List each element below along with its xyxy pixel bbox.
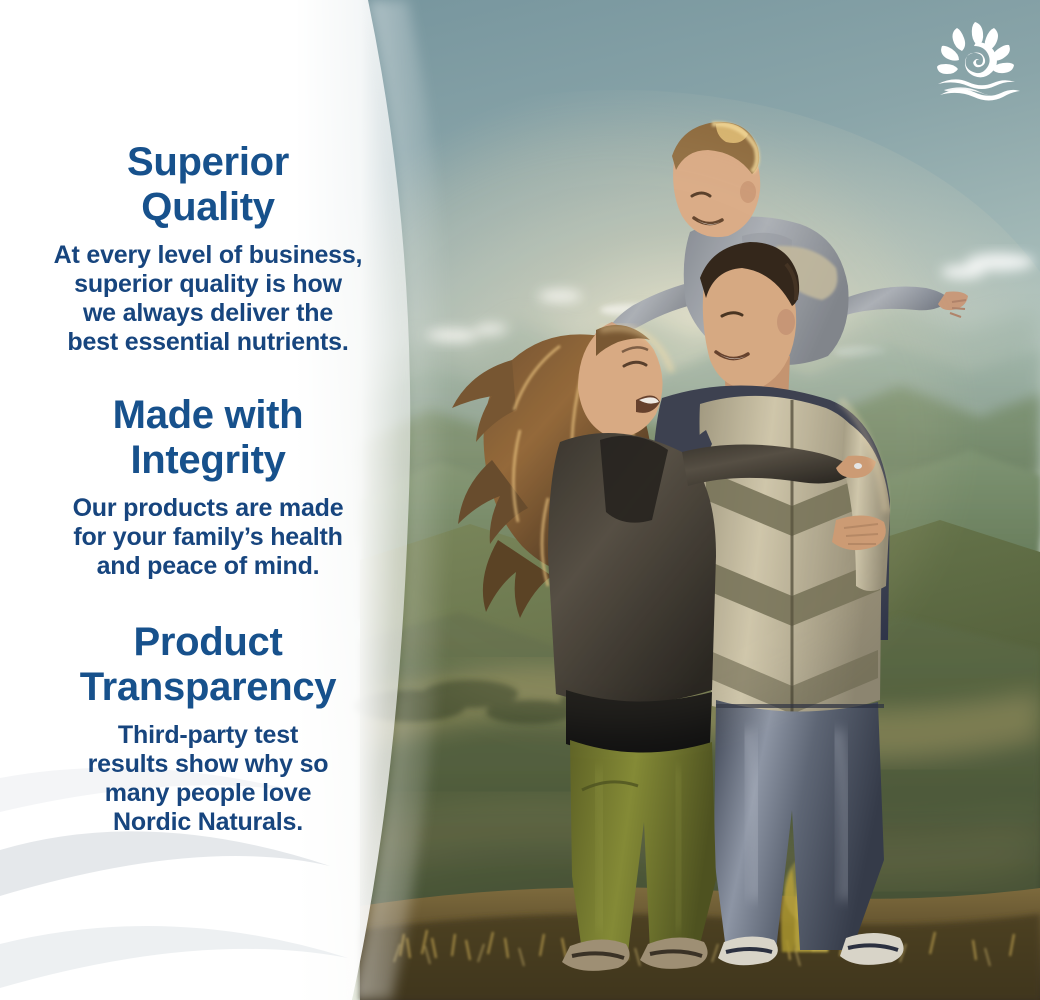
body-line: superior quality is how — [6, 270, 410, 299]
body-line: and peace of mind. — [6, 552, 410, 581]
value-block-quality: Superior Quality At every level of busin… — [6, 140, 410, 357]
body-line: Our products are made — [6, 494, 410, 523]
heading-line: Product — [6, 620, 410, 665]
body-line: we always deliver the — [6, 299, 410, 328]
value-body-integrity: Our products are made for your family’s … — [6, 494, 410, 581]
body-line: many people love — [6, 779, 410, 808]
heading-line: Superior — [6, 140, 410, 185]
body-line: best essential nutrients. — [6, 328, 410, 357]
body-line: Third-party test — [6, 721, 410, 750]
heading-line: Transparency — [6, 665, 410, 710]
value-block-transparency: Product Transparency Third-party test re… — [6, 620, 410, 837]
value-body-quality: At every level of business, superior qua… — [6, 241, 410, 357]
heading-line: Made with — [6, 393, 410, 438]
value-propositions: Superior Quality At every level of busin… — [0, 0, 410, 1000]
heading-line: Integrity — [6, 438, 410, 483]
value-body-transparency: Third-party test results show why so man… — [6, 721, 410, 837]
heading-line: Quality — [6, 185, 410, 230]
body-line: results show why so — [6, 750, 410, 779]
brand-values-banner: Superior Quality At every level of busin… — [0, 0, 1040, 1000]
value-heading-quality: Superior Quality — [6, 140, 410, 230]
value-heading-integrity: Made with Integrity — [6, 393, 410, 483]
body-line: for your family’s health — [6, 523, 410, 552]
body-line: At every level of business, — [6, 241, 410, 270]
value-heading-transparency: Product Transparency — [6, 620, 410, 710]
sun-wave-logo-icon — [930, 18, 1022, 104]
value-block-integrity: Made with Integrity Our products are mad… — [6, 393, 410, 581]
body-line: Nordic Naturals. — [6, 808, 410, 837]
